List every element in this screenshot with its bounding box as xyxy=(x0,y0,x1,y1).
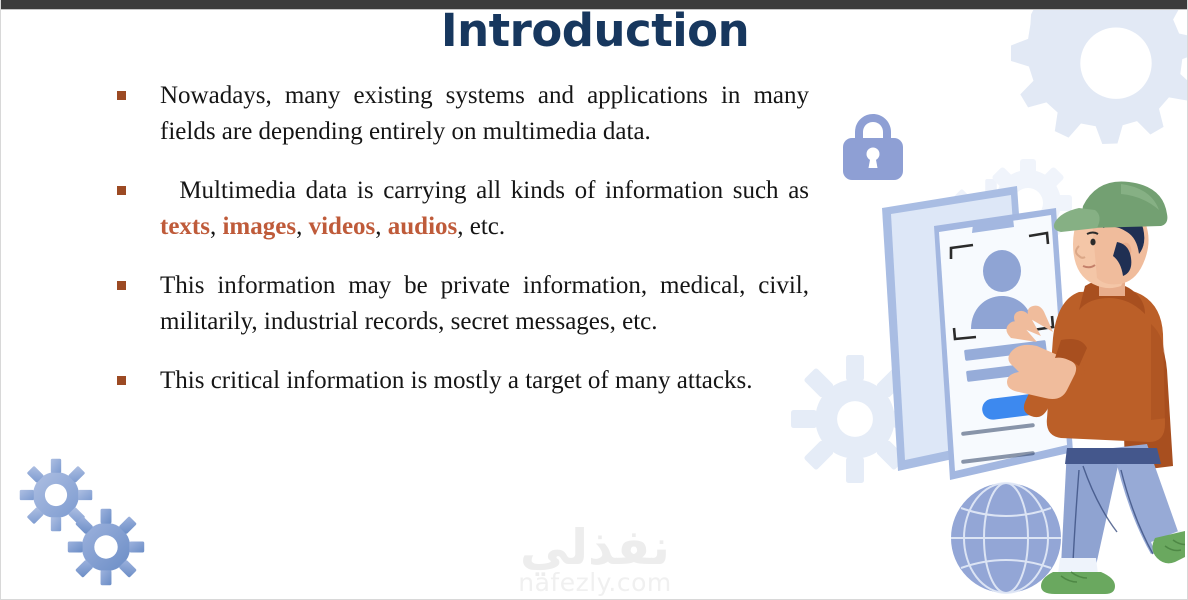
highlight-videos: videos xyxy=(309,213,376,240)
square-bullet-icon xyxy=(117,281,126,290)
bullet-list: Nowadays, many existing systems and appl… xyxy=(117,78,809,399)
slide-title: Introduction xyxy=(1,4,1188,57)
gear-bottom-left-upper-icon xyxy=(19,458,93,537)
smartphone xyxy=(882,186,1073,480)
bullet-text-4: This critical information is mostly a ta… xyxy=(160,363,809,399)
square-bullet-icon xyxy=(117,91,126,100)
square-bullet-icon xyxy=(117,186,126,195)
viewer-top-bar-divider xyxy=(1,9,1188,10)
person-eye xyxy=(1090,239,1095,246)
bullet-text-1: Nowadays, many existing systems and appl… xyxy=(160,78,809,149)
bullet-text-3: This information may be private informat… xyxy=(160,268,809,339)
globe-sphere xyxy=(951,483,1061,593)
padlock-icon xyxy=(843,114,903,180)
list-item: Multimedia data is carrying all kinds of… xyxy=(117,173,809,244)
list-item: Nowadays, many existing systems and appl… xyxy=(117,78,809,149)
person-sock xyxy=(1058,558,1098,574)
viewer-top-bar xyxy=(1,0,1188,9)
mobile-identity-security-illustration xyxy=(821,96,1185,600)
highlight-texts: texts xyxy=(160,213,210,240)
person-hoodie-shadow xyxy=(1151,324,1167,420)
highlight-audios: audios xyxy=(388,213,457,240)
gear-bottom-left-lower-icon xyxy=(67,508,145,591)
highlight-images: images xyxy=(222,213,296,240)
bullet-text-2: Multimedia data is carrying all kinds of… xyxy=(160,173,809,244)
square-bullet-icon xyxy=(117,376,126,385)
presentation-slide: Introduction Nowadays, many existing sys… xyxy=(0,0,1188,600)
list-item: This information may be private informat… xyxy=(117,268,809,339)
list-item: This critical information is mostly a ta… xyxy=(117,363,809,399)
